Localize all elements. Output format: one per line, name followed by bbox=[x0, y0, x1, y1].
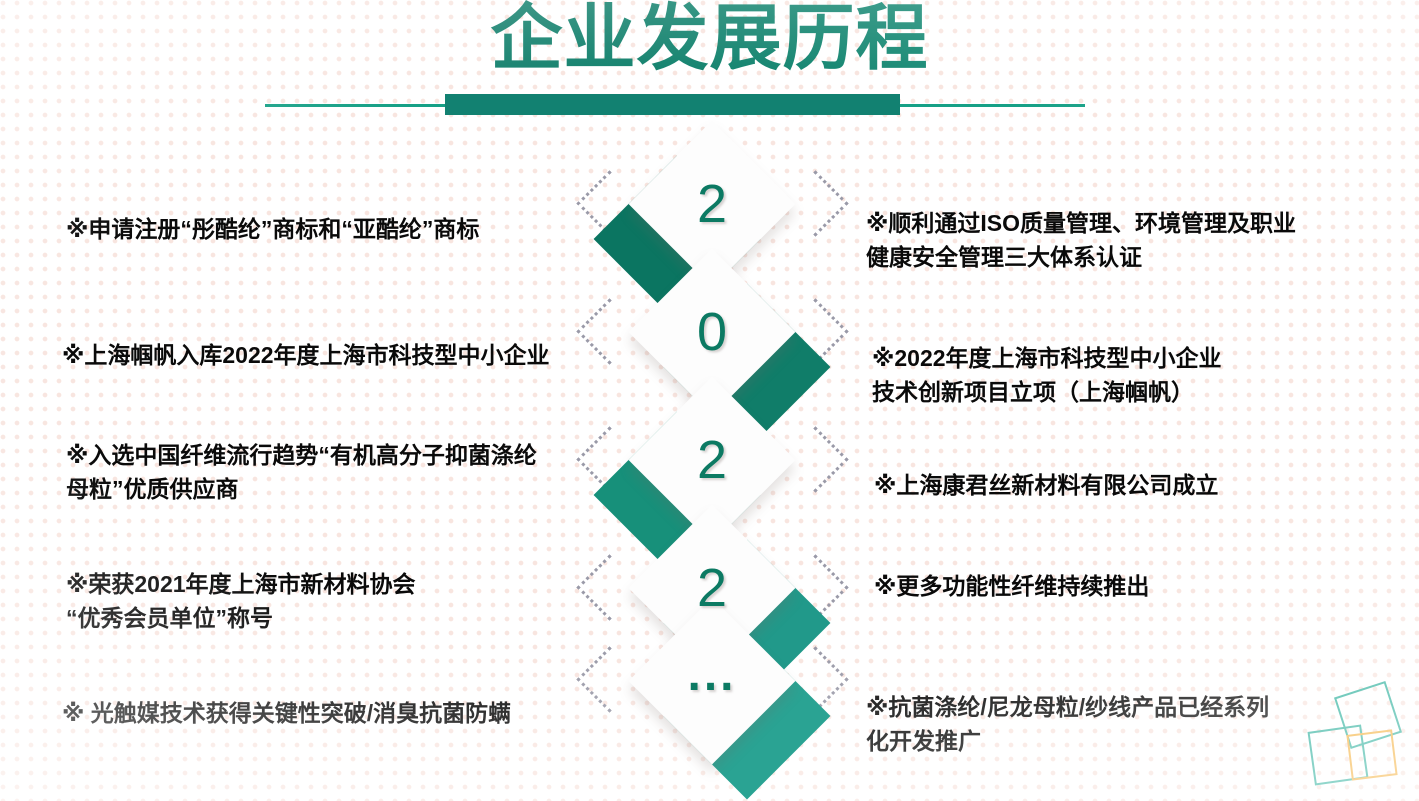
chevron-left-icon-1 bbox=[576, 170, 642, 236]
node-digit-4: 2 bbox=[653, 529, 771, 647]
left-item-5-bullet: ※ bbox=[62, 700, 84, 726]
node-diamond-3 bbox=[629, 377, 796, 544]
page-title: 企业发展历程 bbox=[0, 0, 1419, 82]
node-shadow-diamond-2 bbox=[664, 284, 831, 451]
left-item-5-text: 光触媒技术获得关键性突破/消臭抗菌防螨 bbox=[84, 700, 511, 726]
right-item-1-text: 顺利通过ISO质量管理、环境管理及职业 健康安全管理三大体系认证 bbox=[866, 210, 1296, 270]
right-item-4: ※更多功能性纤维持续推出 bbox=[874, 535, 1394, 603]
left-item-2-text: 上海帼帆入库2022年度上海市科技型中小企业 bbox=[84, 342, 549, 368]
node-diamond-1 bbox=[629, 121, 796, 288]
node-diamond-2 bbox=[629, 249, 796, 416]
right-item-2-text: 2022年度上海市科技型中小企业 技术创新项目立项（上海帼帆） bbox=[872, 345, 1222, 405]
chevron-right-icon-2 bbox=[782, 298, 848, 364]
right-item-3-bullet: ※ bbox=[874, 472, 896, 498]
chevron-right-icon-1 bbox=[782, 170, 848, 236]
left-item-1-bullet: ※ bbox=[66, 216, 88, 242]
left-item-4: ※荣获2021年度上海市新材料协会 “优秀会员单位”称号 bbox=[66, 533, 586, 635]
right-item-1: ※顺利通过ISO质量管理、环境管理及职业 健康安全管理三大体系认证 bbox=[866, 172, 1386, 274]
node-shadow-diamond-5 bbox=[664, 633, 831, 800]
right-item-4-bullet: ※ bbox=[874, 573, 896, 599]
right-item-4-text: 更多功能性纤维持续推出 bbox=[896, 573, 1149, 599]
node-shadow-diamond-3 bbox=[594, 412, 761, 579]
node-diamond-5 bbox=[629, 598, 796, 765]
left-item-1: ※申请注册“彤酷纶”商标和“亚酷纶”商标 bbox=[66, 178, 586, 246]
title-block: 企业发展历程 bbox=[0, 0, 1419, 120]
node-digit-3: 2 bbox=[653, 401, 771, 519]
right-item-2-bullet: ※ bbox=[872, 345, 894, 371]
node-digit-1: 2 bbox=[653, 145, 771, 263]
node-digit-2: 0 bbox=[653, 273, 771, 391]
right-item-5-text: 抗菌涤纶/尼龙母粒/纱线产品已经系列 化开发推广 bbox=[866, 694, 1269, 754]
right-item-1-bullet: ※ bbox=[866, 210, 888, 236]
left-item-5: ※ 光触媒技术获得关键性突破/消臭抗菌防螨 bbox=[62, 662, 602, 730]
left-item-3: ※入选中国纤维流行趋势“有机高分子抑菌涤纶 母粒”优质供应商 bbox=[66, 404, 586, 506]
decor-square-orange-icon bbox=[1346, 729, 1397, 780]
right-item-5-bullet: ※ bbox=[866, 694, 888, 720]
right-item-2: ※2022年度上海市科技型中小企业 技术创新项目立项（上海帼帆） bbox=[872, 307, 1392, 409]
node-diamond-4 bbox=[629, 505, 796, 672]
chevron-right-icon-3 bbox=[782, 426, 848, 492]
chevron-right-icon-5 bbox=[782, 646, 848, 712]
left-item-1-text: 申请注册“彤酷纶”商标和“亚酷纶”商标 bbox=[88, 216, 479, 242]
right-item-3: ※上海康君丝新材料有限公司成立 bbox=[874, 434, 1394, 502]
left-item-3-bullet: ※ bbox=[66, 442, 88, 468]
left-item-2: ※上海帼帆入库2022年度上海市科技型中小企业 bbox=[62, 304, 592, 372]
left-item-4-bullet: ※ bbox=[66, 571, 88, 597]
chevron-right-icon-4 bbox=[782, 554, 848, 620]
left-item-4-text: 荣获2021年度上海市新材料协会 “优秀会员单位”称号 bbox=[66, 571, 416, 631]
left-item-3-text: 入选中国纤维流行趋势“有机高分子抑菌涤纶 母粒”优质供应商 bbox=[66, 442, 537, 502]
node-shadow-diamond-1 bbox=[594, 156, 761, 323]
node-shadow-diamond-4 bbox=[664, 540, 831, 707]
title-underline-bar bbox=[445, 94, 900, 115]
node-digit-5: ... bbox=[653, 622, 771, 740]
slide-canvas: 企业发展历程 2 0 2 bbox=[0, 0, 1419, 801]
right-item-3-text: 上海康君丝新材料有限公司成立 bbox=[896, 472, 1218, 498]
left-item-2-bullet: ※ bbox=[62, 342, 84, 368]
corner-decoration bbox=[1303, 682, 1413, 797]
chevron-left-icon-3 bbox=[576, 426, 642, 492]
chevron-left-icon-4 bbox=[576, 554, 642, 620]
